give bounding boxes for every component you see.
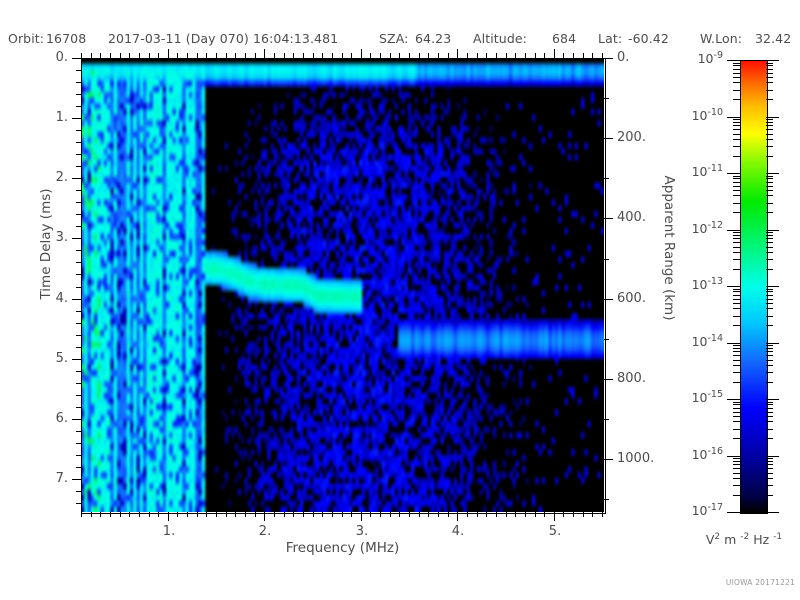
colorbar-tick-label: 10-15 (657, 389, 723, 405)
colorbar-tick-minor (733, 195, 740, 196)
colorbar-tick-minor (733, 259, 740, 260)
x-tick-minor-top (486, 53, 487, 58)
colorbar-tick-minor (766, 252, 773, 253)
x-tick-minor-top (380, 53, 381, 58)
colorbar-tick-minor (766, 402, 773, 403)
colorbar-tick-major (766, 343, 779, 344)
x-tick-minor (206, 512, 207, 517)
x-tick-label: 2. (255, 524, 275, 539)
colorbar-tick-minor (766, 468, 773, 469)
colorbar-tick-minor (766, 372, 773, 373)
y-tick-minor (76, 214, 81, 215)
colorbar-tick-minor (733, 73, 740, 74)
colorbar-tick-minor (733, 212, 740, 213)
colorbar-tick-major (727, 173, 740, 174)
x-tick-minor (602, 512, 603, 517)
x-tick-major (554, 512, 555, 521)
colorbar-tick-minor (766, 416, 773, 417)
x-tick-minor-top (438, 53, 439, 58)
colorbar-tick-minor (733, 182, 740, 183)
y-tick-minor (76, 503, 81, 504)
colorbar-tick-minor (766, 63, 773, 64)
x-tick-minor (235, 512, 236, 517)
x-tick-minor (563, 512, 564, 517)
colorbar-tick-minor (766, 345, 773, 346)
x-tick-minor-top (592, 53, 593, 58)
y-tick-major (72, 238, 81, 239)
x-tick-minor (332, 512, 333, 517)
colorbar-tick-minor (733, 421, 740, 422)
colorbar-tick-major (727, 286, 740, 287)
colorbar-tick-minor (766, 69, 773, 70)
colorbar-tick-minor (733, 90, 740, 91)
colorbar-tick-major (766, 456, 779, 457)
x-tick-minor (129, 512, 130, 517)
y2-tick-minor (604, 339, 609, 340)
colorbar-unit-label: V2 m -2 Hz -1 (688, 532, 800, 547)
ionogram-figure: Orbit: 16708 2017-03-11 (Day 070) 16:04:… (0, 0, 800, 600)
colorbar-tick-minor (766, 316, 773, 317)
x-tick-minor (525, 512, 526, 517)
x-tick-minor (91, 512, 92, 517)
colorbar-tick-label: 10-14 (657, 333, 723, 349)
colorbar-tick-major (727, 230, 740, 231)
x-tick-minor (197, 512, 198, 517)
x-tick-minor-top (525, 53, 526, 58)
x-tick-minor (322, 512, 323, 517)
x-tick-minor-top (303, 53, 304, 58)
colorbar-tick-minor (733, 382, 740, 383)
x-tick-minor-top (139, 53, 140, 58)
x-tick-minor (515, 512, 516, 517)
colorbar-tick-minor (766, 299, 773, 300)
y-tick-minor (76, 106, 81, 107)
colorbar-tick-minor (733, 63, 740, 64)
x-tick-minor-top (322, 53, 323, 58)
colorbar-tick-minor (733, 178, 740, 179)
colorbar-tick-minor (733, 82, 740, 83)
colorbar-tick-minor (766, 186, 773, 187)
x-tick-minor (496, 512, 497, 517)
colorbar-tick-minor (733, 365, 740, 366)
y-tick-major (72, 419, 81, 420)
x-tick-major (264, 512, 265, 521)
x-tick-minor-top (515, 53, 516, 58)
x-tick-minor-top (342, 53, 343, 58)
x-tick-minor (303, 512, 304, 517)
x-tick-major-top (361, 49, 362, 58)
colorbar-tick-minor (733, 402, 740, 403)
colorbar-tick-minor (733, 146, 740, 147)
x-tick-minor-top (313, 53, 314, 58)
colorbar-tick-minor (766, 190, 773, 191)
y-tick-major (72, 299, 81, 300)
y2-tick-major (604, 459, 613, 460)
colorbar-tick-minor (766, 178, 773, 179)
y-tick-label: 5. (42, 351, 68, 366)
x-tick-minor-top (332, 53, 333, 58)
colorbar-tick-minor (733, 176, 740, 177)
y-tick-minor (76, 262, 81, 263)
x-tick-minor (313, 512, 314, 517)
x-tick-label: 3. (352, 524, 372, 539)
colorbar-tick-major (727, 399, 740, 400)
colorbar-tick-minor (733, 232, 740, 233)
colorbar-tick-label: 10-9 (657, 50, 723, 66)
colorbar-tick-minor (733, 291, 740, 292)
x-tick-minor (592, 512, 593, 517)
x-tick-label: 4. (448, 524, 468, 539)
sza-label: SZA: (379, 31, 408, 46)
x-tick-minor (158, 512, 159, 517)
colorbar-tick-minor (766, 176, 773, 177)
x-tick-minor-top (120, 53, 121, 58)
colorbar-tick-minor (766, 182, 773, 183)
y-tick-major (72, 479, 81, 480)
x-tick-minor-top (602, 53, 603, 58)
cb-unit-m: m (720, 532, 740, 547)
x-tick-minor (120, 512, 121, 517)
y2-tick-major (604, 138, 613, 139)
colorbar-tick-major (766, 286, 779, 287)
colorbar-tick-minor (766, 291, 773, 292)
x-tick-minor-top (477, 53, 478, 58)
colorbar-tick-minor (733, 495, 740, 496)
y-tick-minor (76, 467, 81, 468)
y-tick-minor (76, 323, 81, 324)
x-tick-minor (390, 512, 391, 517)
x-tick-minor-top (255, 53, 256, 58)
colorbar-tick-minor (766, 247, 773, 248)
colorbar-tick-minor (766, 408, 773, 409)
colorbar-tick-minor (766, 289, 773, 290)
x-tick-minor (477, 512, 478, 517)
colorbar-tick-minor (733, 461, 740, 462)
x-tick-minor (351, 512, 352, 517)
colorbar-tick-minor (766, 235, 773, 236)
colorbar-tick-minor (733, 77, 740, 78)
ionogram-heatmap (81, 58, 604, 512)
colorbar-tick-minor (733, 134, 740, 135)
y-tick-minor (76, 94, 81, 95)
x-tick-minor-top (409, 53, 410, 58)
x-tick-minor-top (370, 53, 371, 58)
y-tick-minor (76, 130, 81, 131)
colorbar-tick-minor (733, 351, 740, 352)
colorbar-tick-major (766, 117, 779, 118)
colorbar-tick-minor (766, 242, 773, 243)
colorbar-tick-minor (733, 438, 740, 439)
y2-tick-major (604, 58, 613, 59)
x-tick-major-top (264, 49, 265, 58)
y-tick-minor (76, 383, 81, 384)
y-tick-label: 7. (42, 471, 68, 486)
colorbar-tick-label: 10-17 (657, 502, 723, 518)
colorbar-gradient (741, 61, 767, 513)
colorbar-tick-minor (766, 125, 773, 126)
cb-unit-exp-2: -2 (740, 532, 749, 542)
colorbar-tick-minor (733, 408, 740, 409)
y2-tick-minor (604, 178, 609, 179)
colorbar-tick-minor (766, 382, 773, 383)
x-tick-minor-top (187, 53, 188, 58)
colorbar-tick-minor (733, 122, 740, 123)
colorbar-tick-minor (766, 232, 773, 233)
colorbar-tick-label: 10-12 (657, 220, 723, 236)
colorbar-tick-minor (766, 139, 773, 140)
x-tick-minor (583, 512, 584, 517)
colorbar-tick-minor (766, 473, 773, 474)
colorbar-tick-minor (766, 495, 773, 496)
colorbar-tick-minor (733, 190, 740, 191)
colorbar-tick-minor (733, 416, 740, 417)
x-tick-major-top (168, 49, 169, 58)
colorbar-tick-minor (733, 289, 740, 290)
colorbar-tick-minor (766, 203, 773, 204)
x-tick-minor (438, 512, 439, 517)
y2-tick-label: 200. (617, 130, 677, 145)
colorbar-tick-minor (733, 235, 740, 236)
colorbar-tick-minor (766, 195, 773, 196)
lat-value: -60.42 (628, 31, 669, 46)
colorbar-tick-minor (733, 203, 740, 204)
x-tick-minor-top (91, 53, 92, 58)
y-tick-minor (76, 190, 81, 191)
y-tick-minor (76, 347, 81, 348)
y-tick-minor (76, 274, 81, 275)
x-tick-major-top (457, 49, 458, 58)
colorbar-tick-minor (733, 404, 740, 405)
sza-value: 64.23 (415, 31, 451, 46)
x-tick-minor-top (563, 53, 564, 58)
observation-time: 16:04:13.481 (253, 31, 338, 46)
y-tick-minor (76, 142, 81, 143)
colorbar-tick-minor (733, 69, 740, 70)
colorbar-tick-minor (766, 421, 773, 422)
colorbar-tick-minor (766, 119, 773, 120)
colorbar-tick-minor (766, 308, 773, 309)
colorbar-tick-label: 10-13 (657, 276, 723, 292)
x-tick-minor (81, 512, 82, 517)
x-tick-minor (486, 512, 487, 517)
colorbar-tick-major (727, 343, 740, 344)
colorbar-tick-minor (766, 438, 773, 439)
colorbar-tick-major (727, 512, 740, 513)
colorbar-tick-major (766, 230, 779, 231)
colorbar-tick-minor (733, 429, 740, 430)
x-tick-minor-top (177, 53, 178, 58)
orbit-value: 16708 (46, 31, 86, 46)
colorbar-tick-minor (766, 77, 773, 78)
colorbar-tick-minor (766, 129, 773, 130)
altitude-value: 684 (552, 31, 576, 46)
y-tick-minor (76, 70, 81, 71)
y2-tick-major (604, 218, 613, 219)
colorbar-tick-minor (733, 129, 740, 130)
colorbar-tick-minor (733, 412, 740, 413)
x-tick-minor-top (235, 53, 236, 58)
colorbar-tick-minor (733, 295, 740, 296)
colorbar-tick-minor (733, 464, 740, 465)
y-tick-minor (76, 154, 81, 155)
colorbar (740, 60, 768, 514)
y-tick-minor (76, 395, 81, 396)
x-tick-major (361, 512, 362, 521)
x-tick-minor-top (284, 53, 285, 58)
colorbar-tick-minor (766, 212, 773, 213)
y-tick-minor (76, 443, 81, 444)
y-tick-minor (76, 335, 81, 336)
colorbar-tick-label: 10-16 (657, 446, 723, 462)
y-tick-minor (76, 202, 81, 203)
colorbar-tick-minor (733, 473, 740, 474)
colorbar-tick-minor (733, 458, 740, 459)
y-tick-minor (76, 407, 81, 408)
colorbar-tick-minor (766, 429, 773, 430)
colorbar-tick-minor (733, 269, 740, 270)
wlon-value: 32.42 (755, 31, 791, 46)
header-metadata: Orbit: 16708 2017-03-11 (Day 070) 16:04:… (0, 31, 800, 49)
y-tick-minor (76, 250, 81, 251)
colorbar-tick-minor (733, 360, 740, 361)
colorbar-tick-minor (766, 404, 773, 405)
colorbar-tick-minor (766, 325, 773, 326)
colorbar-tick-minor (766, 238, 773, 239)
x-tick-minor (370, 512, 371, 517)
x-tick-minor (139, 512, 140, 517)
colorbar-tick-minor (733, 355, 740, 356)
x-tick-minor (245, 512, 246, 517)
x-tick-label: 1. (159, 524, 179, 539)
x-tick-minor-top (129, 53, 130, 58)
y2-tick-minor (604, 499, 609, 500)
y-tick-major (72, 178, 81, 179)
colorbar-tick-minor (766, 65, 773, 66)
colorbar-tick-minor (733, 125, 740, 126)
x-tick-minor-top (496, 53, 497, 58)
colorbar-tick-minor (766, 99, 773, 100)
x-tick-minor (216, 512, 217, 517)
cb-unit-exp-3: -1 (773, 532, 782, 542)
ionogram-plot-area (81, 58, 604, 512)
colorbar-tick-minor (733, 325, 740, 326)
colorbar-tick-minor (766, 73, 773, 74)
colorbar-tick-minor (766, 458, 773, 459)
y2-tick-minor (604, 419, 609, 420)
x-tick-minor-top (226, 53, 227, 58)
observation-date: 2017-03-11 (Day 070) (108, 31, 249, 46)
x-tick-minor (177, 512, 178, 517)
x-tick-major (457, 512, 458, 521)
colorbar-tick-minor (766, 303, 773, 304)
colorbar-tick-minor (766, 360, 773, 361)
x-tick-minor (448, 512, 449, 517)
x-tick-minor (506, 512, 507, 517)
x-tick-minor-top (206, 53, 207, 58)
x-tick-minor-top (448, 53, 449, 58)
y-tick-minor (76, 311, 81, 312)
y2-tick-minor (604, 259, 609, 260)
y-tick-minor (76, 166, 81, 167)
x-tick-minor (419, 512, 420, 517)
colorbar-tick-minor (766, 355, 773, 356)
y-axis-title: Time Delay (ms) (38, 164, 54, 324)
x-tick-minor (110, 512, 111, 517)
x-tick-major-top (554, 49, 555, 58)
y-tick-minor (76, 431, 81, 432)
colorbar-tick-minor (766, 122, 773, 123)
x-tick-minor (573, 512, 574, 517)
y-tick-minor (76, 226, 81, 227)
colorbar-tick-major (727, 117, 740, 118)
x-tick-major (168, 512, 169, 521)
colorbar-tick-minor (733, 485, 740, 486)
x-tick-minor-top (419, 53, 420, 58)
colorbar-tick-minor (733, 119, 740, 120)
x-tick-minor (535, 512, 536, 517)
colorbar-tick-minor (766, 351, 773, 352)
x-tick-minor-top (81, 53, 82, 58)
colorbar-tick-label: 10-10 (657, 107, 723, 123)
x-tick-minor (342, 512, 343, 517)
x-axis-title: Frequency (MHz) (81, 540, 604, 556)
colorbar-tick-minor (733, 242, 740, 243)
colorbar-tick-major (727, 60, 740, 61)
x-tick-minor (149, 512, 150, 517)
x-tick-minor-top (506, 53, 507, 58)
orbit-label: Orbit: (8, 31, 44, 46)
colorbar-tick-minor (766, 461, 773, 462)
x-tick-minor-top (245, 53, 246, 58)
colorbar-tick-minor (766, 82, 773, 83)
x-tick-minor-top (399, 53, 400, 58)
y-tick-minor (76, 371, 81, 372)
x-tick-minor-top (428, 53, 429, 58)
colorbar-tick-minor (766, 269, 773, 270)
colorbar-tick-minor (733, 348, 740, 349)
colorbar-tick-minor (733, 186, 740, 187)
y2-tick-label: 800. (617, 371, 677, 386)
x-tick-minor-top (100, 53, 101, 58)
x-tick-minor-top (390, 53, 391, 58)
colorbar-tick-minor (766, 478, 773, 479)
x-tick-minor (467, 512, 468, 517)
wlon-label: W.Lon: (700, 31, 742, 46)
colorbar-tick-minor (766, 134, 773, 135)
y-tick-minor (76, 455, 81, 456)
colorbar-tick-minor (766, 156, 773, 157)
y-tick-major (72, 359, 81, 360)
colorbar-tick-minor (733, 308, 740, 309)
y-tick-label: 0. (42, 50, 68, 65)
colorbar-tick-minor (733, 316, 740, 317)
x-tick-minor (293, 512, 294, 517)
colorbar-tick-minor (733, 99, 740, 100)
colorbar-tick-minor (733, 156, 740, 157)
x-tick-minor (187, 512, 188, 517)
y-tick-minor (76, 82, 81, 83)
y-tick-major (72, 58, 81, 59)
colorbar-tick-major (766, 60, 779, 61)
colorbar-tick-minor (766, 259, 773, 260)
x-tick-minor-top (158, 53, 159, 58)
colorbar-tick-minor (766, 146, 773, 147)
x-tick-minor (380, 512, 381, 517)
colorbar-tick-minor (733, 478, 740, 479)
x-tick-minor (409, 512, 410, 517)
x-tick-minor (544, 512, 545, 517)
colorbar-tick-minor (766, 412, 773, 413)
